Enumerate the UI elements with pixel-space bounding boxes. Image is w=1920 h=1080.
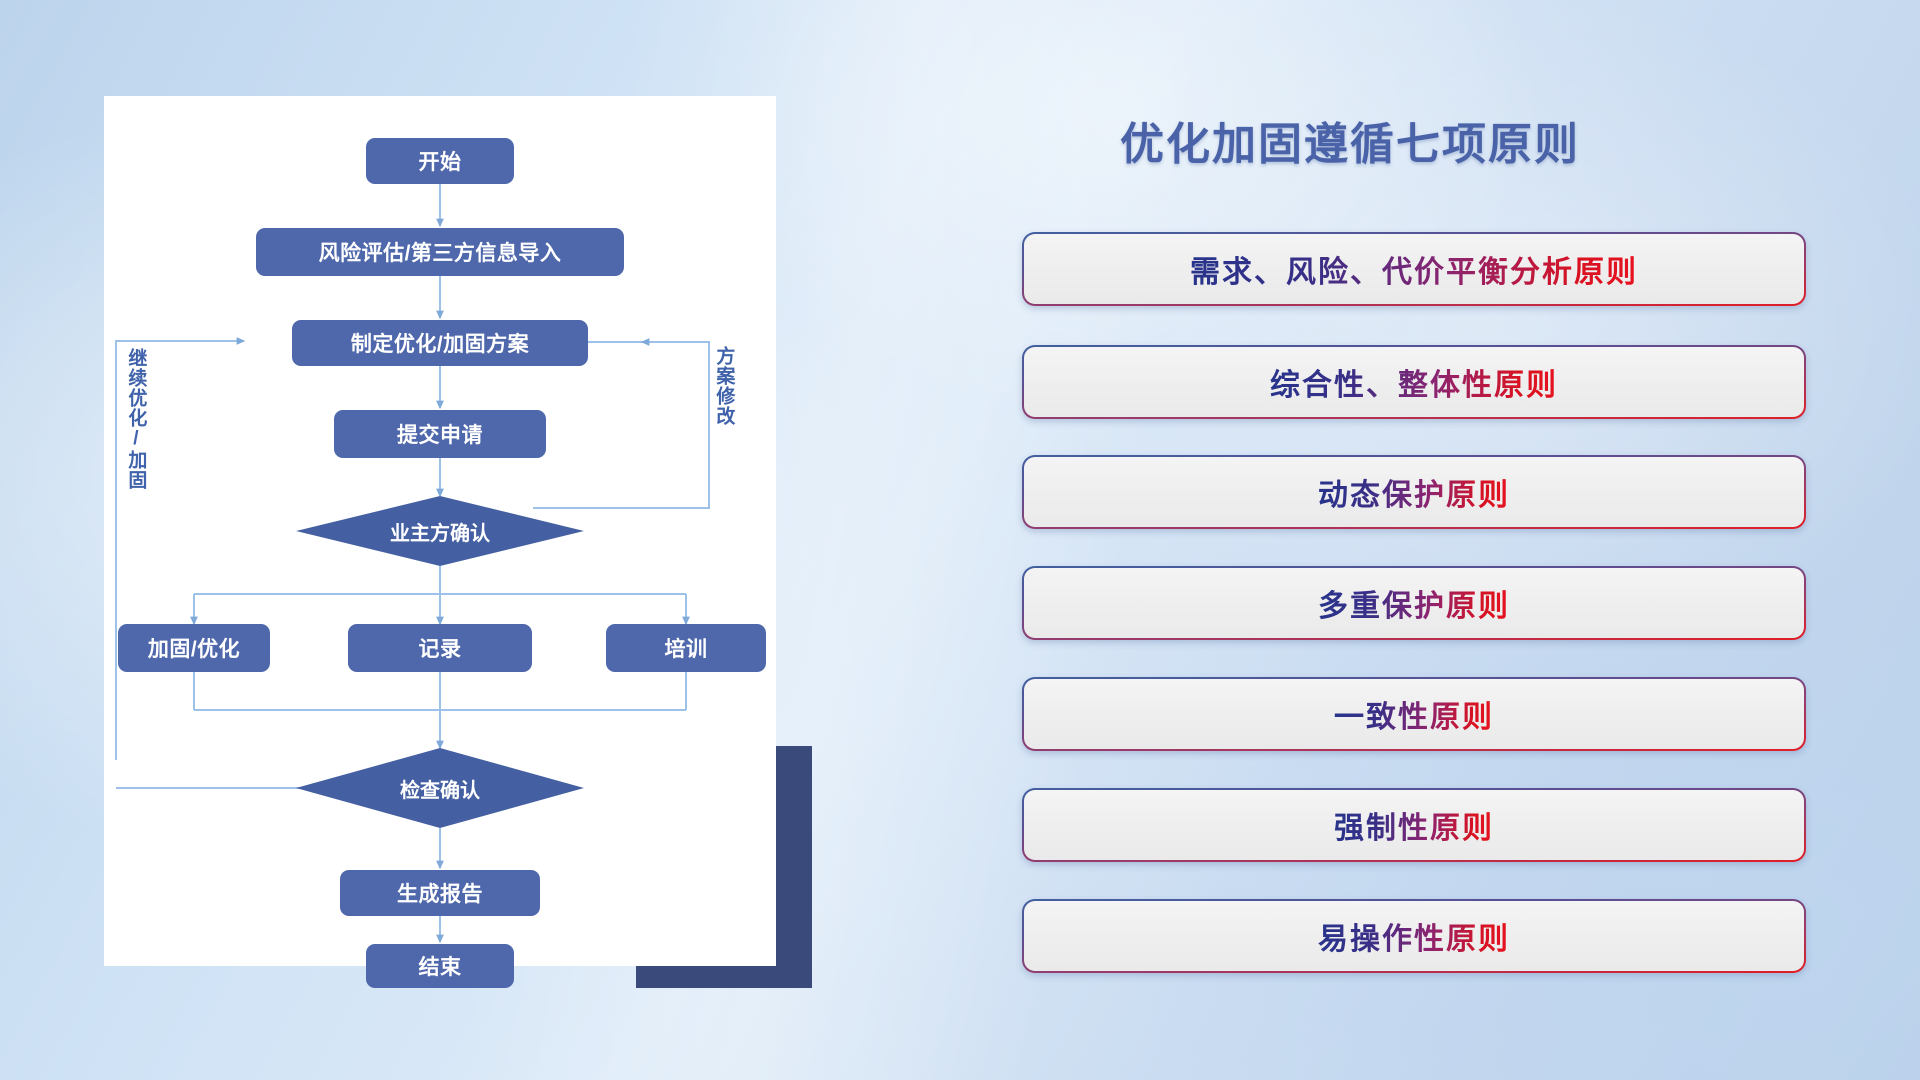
flow-node-record[interactable]: 记录 (348, 624, 532, 672)
flow-node-label: 提交申请 (397, 419, 483, 449)
flow-node-start[interactable]: 开始 (366, 138, 514, 184)
flow-node-label: 风险评估/第三方信息导入 (319, 237, 562, 267)
principle-card-6[interactable]: 强制性原则 (1022, 788, 1806, 862)
principle-label: 动态保护原则 (1318, 470, 1510, 514)
principle-card-inner: 一致性原则 (1024, 679, 1804, 749)
principle-card-7[interactable]: 易操作性原则 (1022, 899, 1806, 973)
flow-node-training[interactable]: 培训 (606, 624, 766, 672)
panel-title: 优化加固遵循七项原则 (1020, 108, 1680, 172)
principle-card-inner: 易操作性原则 (1024, 901, 1804, 971)
flow-node-label: 制定优化/加固方案 (351, 328, 529, 358)
principle-card-inner: 强制性原则 (1024, 790, 1804, 860)
flowchart: 开始 风险评估/第三方信息导入 制定优化/加固方案 提交申请 业主方确认 加固/… (104, 96, 776, 966)
flow-edge-label-plan-revise: 方案修改 (714, 346, 733, 426)
principle-card-inner: 动态保护原则 (1024, 457, 1804, 527)
principle-label: 强制性原则 (1334, 803, 1494, 847)
principle-card-4[interactable]: 多重保护原则 (1022, 566, 1806, 640)
flowchart-card: 开始 风险评估/第三方信息导入 制定优化/加固方案 提交申请 业主方确认 加固/… (104, 96, 776, 966)
flow-decision-label: 检查确认 (400, 774, 480, 803)
flow-node-label: 生成报告 (397, 878, 483, 908)
principle-label: 多重保护原则 (1318, 581, 1510, 625)
flow-decision-label: 业主方确认 (390, 517, 490, 546)
flow-node-label: 培训 (665, 633, 708, 663)
flow-node-end[interactable]: 结束 (366, 944, 514, 988)
principle-card-2[interactable]: 综合性、整体性原则 (1022, 345, 1806, 419)
flow-node-plan[interactable]: 制定优化/加固方案 (292, 320, 588, 366)
principle-label: 综合性、整体性原则 (1270, 360, 1558, 404)
principle-card-5[interactable]: 一致性原则 (1022, 677, 1806, 751)
principle-label: 需求、风险、代价平衡分析原则 (1190, 247, 1638, 291)
flow-node-label: 结束 (419, 951, 462, 981)
flow-node-submit[interactable]: 提交申请 (334, 410, 546, 458)
principle-card-1[interactable]: 需求、风险、代价平衡分析原则 (1022, 232, 1806, 306)
principle-card-inner: 多重保护原则 (1024, 568, 1804, 638)
principle-card-3[interactable]: 动态保护原则 (1022, 455, 1806, 529)
flow-node-risk-assessment[interactable]: 风险评估/第三方信息导入 (256, 228, 624, 276)
flow-node-reinforce[interactable]: 加固/优化 (118, 624, 270, 672)
principle-card-inner: 综合性、整体性原则 (1024, 347, 1804, 417)
principle-card-inner: 需求、风险、代价平衡分析原则 (1024, 234, 1804, 304)
flow-node-label: 开始 (419, 146, 462, 176)
flow-node-label: 加固/优化 (148, 633, 240, 663)
slide-canvas: 开始 风险评估/第三方信息导入 制定优化/加固方案 提交申请 业主方确认 加固/… (0, 0, 1920, 1080)
flow-node-report[interactable]: 生成报告 (340, 870, 540, 916)
flow-edge-label-continue-optimize: 继续优化/加固 (126, 348, 145, 490)
principle-label: 一致性原则 (1334, 692, 1494, 736)
flow-node-label: 记录 (419, 633, 462, 663)
principle-label: 易操作性原则 (1318, 914, 1510, 958)
